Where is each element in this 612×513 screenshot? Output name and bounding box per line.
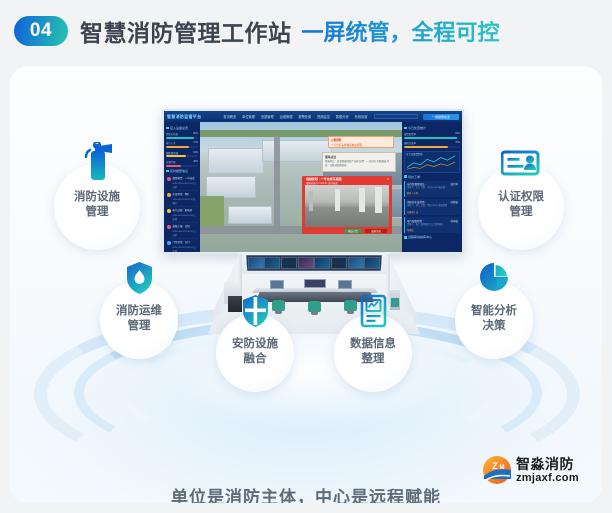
feature-label-line2: 融合: [216, 352, 294, 367]
page-header: 04 智慧消防管理工作站 一屏统管，全程可控: [0, 0, 612, 62]
task-desc: 责任人：王工 计划：今日 14:00 前完成: [407, 187, 458, 190]
pie-chart-icon: [479, 261, 510, 295]
nav-item[interactable]: 单位管理: [242, 114, 255, 119]
cctv-live-view: [305, 185, 389, 227]
map-alert-bubble[interactable]: 火警预警 一号仓库东侧烟感触发报警: [328, 136, 394, 148]
feature-security-fusion[interactable]: 安防设施 融合: [216, 314, 294, 392]
page-caption: 单位是消防主体，中心是远程赋能: [10, 483, 602, 503]
logo-text: 智淼消防 zmjaxf.com: [516, 457, 579, 484]
page-subtitle: 一屏统管，全程可控: [302, 15, 500, 47]
stat-label: 可燃气体: [166, 160, 176, 164]
cctv-pillar: [359, 188, 365, 212]
svg-text:Z: Z: [492, 461, 498, 471]
nav-item[interactable]: 报警处置: [298, 114, 311, 119]
green-area: [200, 196, 224, 226]
dashboard-screen: 智慧消防监管平台 首页概览 单位管理 设施管理 运维管理 报警处置 视频监控 数…: [164, 111, 462, 252]
alert-status-icon: [167, 241, 171, 245]
progress-track: [166, 137, 198, 139]
operator-monitor: [338, 280, 352, 289]
alert-title: 故障上报 · 主机: [173, 224, 198, 228]
factory-roof: [208, 148, 264, 174]
alert-list-item[interactable]: 电气过载 · 配电房2024-06-18 08:21:33 已处理: [166, 207, 198, 223]
operator-chair: [344, 300, 357, 311]
video-wall-cell: [364, 257, 380, 269]
document-chart-icon: [359, 294, 388, 328]
alert-title: 烟感报警 · 一号仓库: [173, 176, 198, 180]
bullet-icon: [166, 127, 169, 130]
shield-flame-icon: [125, 261, 154, 295]
dashboard-right-sidebar: 今日处置统计 报警处置率95% 巡检完成率78% 近七日报警趋势: [402, 122, 462, 252]
stat-value: 95%: [455, 132, 460, 136]
confirm-fire-button[interactable]: 确认火警: [344, 229, 362, 233]
alert-status-icon: [167, 177, 171, 181]
nav-item[interactable]: 系统设置: [355, 114, 368, 119]
map-alert-title: 火警预警: [331, 138, 391, 142]
video-wall-cell: [281, 257, 297, 269]
dashboard-monitor: 智慧消防监管平台 首页概览 单位管理 设施管理 运维管理 报警处置 视频监控 数…: [162, 109, 464, 254]
feature-label-line2: 整理: [334, 352, 412, 367]
feature-fire-facility[interactable]: 消防设施 管理: [54, 164, 140, 250]
stat-bar: 消防水系统86%: [166, 132, 198, 139]
task-title: 仓库区烟感清洁: [407, 182, 425, 186]
svg-text:M: M: [500, 465, 505, 471]
feature-label-line1: 安防设施: [216, 337, 294, 352]
dashboard-search-input[interactable]: [374, 114, 418, 119]
panel-title-text: 今日处置统计: [408, 126, 426, 130]
task-title: 电气线路复检: [407, 219, 422, 223]
stat-label: 报警处置率: [404, 132, 416, 136]
alert-status-icon: [167, 225, 171, 229]
feature-label-line1: 认证权限: [478, 190, 564, 205]
task-status: 待开始: [450, 200, 458, 204]
map-info-title: 现场点位: [325, 155, 393, 159]
nav-item[interactable]: 数据分析: [336, 114, 349, 119]
logo-website: zmjaxf.com: [516, 472, 579, 484]
alert-list-item[interactable]: 水压异常 · B区2024-06-18 08:47:05 处理中: [166, 191, 198, 207]
aerial-map-view[interactable]: 火警预警 一号仓库东侧烟感触发报警 现场点位 所属单位：某某智能制造产业园 位置…: [200, 122, 402, 252]
stat-label: 电气火灾: [166, 141, 176, 145]
shield-cross-icon: [241, 294, 270, 328]
section-number-badge: 04: [14, 16, 68, 46]
map-info-bubble[interactable]: 现场点位 所属单位：某某智能制造产业园 位置：一号仓库 东侧通道 状态：已联动视…: [322, 152, 396, 172]
task-card[interactable]: 电气线路复检待审核 责任人：张工 现场照片已上传待审核 待审核: [404, 217, 460, 233]
nav-item[interactable]: 运维管理: [280, 114, 293, 119]
video-wall: [246, 255, 382, 271]
fire-extinguisher-icon: [81, 142, 115, 182]
bullet-icon: [166, 170, 169, 173]
task-tag: 待审核: [407, 228, 458, 232]
stat-value: 48%: [193, 160, 198, 164]
dashboard-logo: 智慧消防监管平台: [167, 114, 201, 120]
stat-bar: 电气火灾72%: [166, 141, 198, 148]
alert-title: 电气过载 · 配电房: [173, 208, 198, 212]
bullet-icon: [404, 236, 407, 239]
stat-value: 86%: [193, 132, 198, 136]
progress-fill: [166, 165, 181, 167]
alert-list-item[interactable]: 烟感报警 · 一号仓库2024-06-18 09:12:41 已派单: [166, 175, 198, 191]
cctv-pillar: [335, 189, 340, 211]
panel-title-text: 远程联动指挥中心: [408, 235, 432, 239]
alert-subtitle: 2024-06-18 08:47:05 处理中: [173, 197, 198, 205]
logo-mark-icon: Z M: [482, 455, 512, 485]
alert-subtitle: 2024-06-18 09:12:41 已派单: [173, 181, 198, 189]
feature-label-line2: 管理: [100, 319, 178, 334]
task-card[interactable]: 消防栓年度检测待开始 责任人：李工 计划：明日 09:00 开始检测 已延期 1…: [404, 199, 460, 215]
progress-track: [404, 137, 460, 139]
dashboard-nav[interactable]: 首页概览 单位管理 设施管理 运维管理 报警处置 视频监控 数据分析 系统设置: [223, 114, 367, 119]
stat-label: 烟感探测器: [166, 151, 178, 155]
progress-fill: [404, 146, 448, 148]
feature-label-line2: 管理: [478, 205, 564, 220]
stat-bar: 可燃气体48%: [166, 160, 198, 167]
video-wall-cell: [314, 257, 330, 269]
progress-track: [166, 165, 198, 167]
cctv-pillar: [375, 187, 382, 213]
panel-title: 今日处置统计: [404, 126, 460, 130]
task-desc: 责任人：李工 计划：明日 09:00 开始检测: [407, 205, 458, 208]
stat-value: 64%: [193, 151, 198, 155]
cctv-pillar: [309, 191, 313, 211]
feature-label-line2: 决策: [455, 319, 533, 334]
task-card[interactable]: 仓库区烟感清洁进行中 责任人：王工 计划：今日 14:00 前完成 剩余 2 小…: [404, 181, 460, 197]
video-wall-cell: [298, 257, 314, 269]
alert-title: 门禁异常 · 东门: [173, 240, 198, 244]
feature-label-line1: 数据信息: [334, 337, 412, 352]
progress-track: [166, 155, 198, 157]
dashboard-left-sidebar: 接入设备总览 消防水系统86% 电气火灾72% 烟感探测器64% 可燃气体48%: [164, 122, 200, 252]
trend-chart: 近七日报警趋势: [404, 151, 460, 173]
task-desc: 责任人：张工 现场照片已上传待审核: [407, 224, 458, 227]
stat-label: 消防水系统: [166, 132, 178, 136]
progress-fill: [166, 155, 186, 157]
video-wall-cell: [331, 257, 347, 269]
alert-list-item[interactable]: 故障上报 · 主机2024-06-18 07:58:12 已派单: [166, 223, 198, 239]
feature-fire-ops[interactable]: 消防运维 管理: [100, 281, 178, 359]
panel-title: 待办工单: [404, 175, 460, 179]
alert-status-icon: [167, 193, 171, 197]
operator-chair: [272, 300, 285, 311]
feature-auth-permission[interactable]: 认证权限 管理: [478, 164, 564, 250]
alert-status-icon: [167, 209, 171, 213]
id-card-person-icon: [501, 142, 541, 182]
stat-bar: 巡检完成率78%: [404, 141, 460, 148]
map-alert-sub: 一号仓库东侧烟感触发报警: [331, 143, 391, 147]
task-title: 消防栓年度检测: [407, 200, 425, 204]
stat-bar: 烟感探测器64%: [166, 151, 198, 158]
nav-item[interactable]: 设施管理: [261, 114, 274, 119]
alert-title: 水压异常 · B区: [173, 192, 198, 196]
stat-value: 78%: [455, 141, 460, 145]
feature-label-line1: 消防运维: [100, 304, 178, 319]
feature-data-organize[interactable]: 数据信息 整理: [334, 314, 412, 392]
progress-track: [166, 146, 198, 148]
task-tag: 已延期 1 天: [407, 210, 458, 214]
map-info-text: 所属单位：某某智能制造产业园 位置：一号仓库 东侧通道 状态：已联动视频复核: [325, 160, 393, 167]
road: [274, 136, 280, 234]
dashboard-topbar: 智慧消防监管平台 首页概览 单位管理 设施管理 运维管理 报警处置 视频监控 数…: [164, 111, 462, 122]
progress-fill: [166, 137, 194, 139]
factory-roof: [228, 206, 272, 224]
progress-fill: [166, 146, 189, 148]
feature-label-line2: 管理: [54, 205, 140, 220]
stat-value: 72%: [193, 141, 198, 145]
trend-chart-title: 近七日报警趋势: [406, 152, 423, 156]
alert-subtitle: 2024-06-18 07:58:12 已派单: [173, 229, 198, 237]
close-icon[interactable]: ×: [387, 177, 389, 181]
feature-smart-analysis[interactable]: 智能分析 决策: [455, 281, 533, 359]
alert-subtitle: 2024-06-18 08:21:33 已处理: [173, 213, 198, 221]
task-status: 进行中: [450, 182, 458, 186]
panel-title-text: 实时报警信息: [170, 169, 188, 173]
bullet-icon: [404, 127, 407, 130]
equipment-rack-panel: [391, 298, 399, 307]
operator-monitor: [304, 279, 326, 288]
alert-subtitle: 2024-06-18 07:30:02 已处理: [173, 245, 198, 253]
feature-label-line1: 智能分析: [455, 304, 533, 319]
brand-logo: Z M 智淼消防 zmjaxf.com: [482, 455, 579, 485]
server-cabinet: [228, 296, 242, 312]
panel-title-text: 待办工单: [408, 175, 420, 179]
stat-bar: 报警处置率95%: [404, 132, 460, 139]
panel-title-text: 接入设备总览: [170, 126, 188, 130]
dashboard-alarm-button[interactable]: 一键报警处置: [423, 114, 459, 120]
panel-title: 接入设备总览: [166, 126, 198, 130]
alert-list-item[interactable]: 门禁异常 · 东门2024-06-18 07:30:02 已处理: [166, 239, 198, 254]
progress-track: [404, 146, 460, 148]
nav-item[interactable]: 视频监控: [317, 114, 330, 119]
task-status: 待审核: [450, 219, 458, 223]
bullet-icon: [404, 175, 407, 178]
panel-title: 实时报警信息: [166, 169, 198, 173]
page-title: 智慧消防管理工作站: [80, 14, 292, 48]
operator-chair: [308, 301, 321, 312]
content-card: 智慧消防监管平台 首页概览 单位管理 设施管理 运维管理 报警处置 视频监控 数…: [10, 66, 602, 503]
panel-title: 远程联动指挥中心: [404, 235, 460, 239]
video-wall-cell: [248, 257, 264, 269]
logo-brand-name: 智淼消防: [516, 457, 579, 472]
video-wall-cell: [348, 257, 364, 269]
video-wall-cell: [264, 257, 280, 269]
feature-label-line1: 消防设施: [54, 190, 140, 205]
nav-item[interactable]: 首页概览: [223, 114, 236, 119]
factory-roof: [206, 176, 256, 198]
progress-fill: [404, 137, 457, 139]
video-review-popup[interactable]: 视频复核 · 一号仓库东通道 摄像机编号 CAM-01 实时画面 × 确认火警 …: [302, 176, 392, 234]
task-tag: 剩余 2 小时: [407, 191, 458, 195]
operator-monitor: [270, 280, 284, 289]
false-alarm-button[interactable]: 误报关闭: [365, 229, 387, 233]
stat-label: 巡检完成率: [404, 141, 416, 145]
